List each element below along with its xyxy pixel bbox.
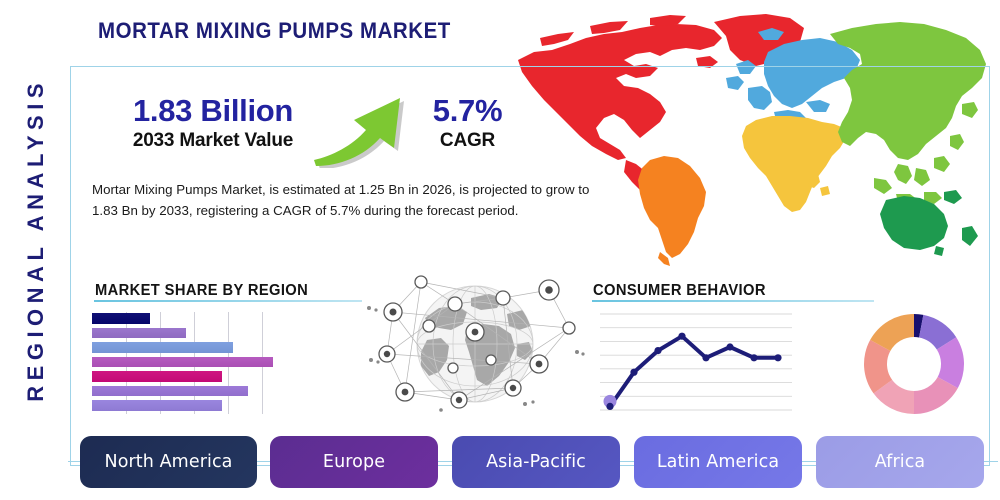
bar-4 — [92, 357, 273, 368]
line-marker-5 — [702, 354, 709, 361]
region-pill-label: Europe — [323, 452, 385, 472]
region-pill-label: Latin America — [657, 452, 779, 472]
market-share-bar-chart — [92, 312, 282, 414]
consumer-behavior-rule — [592, 300, 874, 302]
market-value-number: 1.83 Billion — [98, 95, 328, 128]
pill-connector — [620, 461, 634, 462]
market-share-heading: MARKET SHARE BY REGION — [95, 282, 308, 300]
line-marker-8 — [774, 354, 781, 361]
region-pill-latin-america[interactable]: Latin America — [634, 436, 802, 488]
cagr-number: 5.7% — [400, 95, 535, 128]
region-pill-row: North AmericaEuropeAsia-PacificLatin Ame… — [80, 436, 960, 488]
map-region-africa — [742, 116, 846, 212]
consumer-behavior-heading: CONSUMER BEHAVIOR — [593, 282, 766, 300]
region-pill-africa[interactable]: Africa — [816, 436, 984, 488]
segment-donut-chart — [856, 306, 972, 422]
pill-connector — [438, 461, 452, 462]
map-region-asia — [830, 22, 986, 206]
cagr-caption: CAGR — [400, 130, 535, 152]
world-map — [500, 8, 1000, 270]
infographic-canvas: REGIONAL ANALYSIS MORTAR MIXING PUMPS MA… — [0, 0, 1000, 500]
bar-2 — [92, 328, 186, 339]
cagr-stat: 5.7% CAGR — [400, 95, 535, 152]
pill-connector — [802, 461, 816, 462]
line-marker-2 — [630, 369, 637, 376]
market-value-caption: 2033 Market Value — [98, 130, 328, 152]
region-pill-asia-pacific[interactable]: Asia-Pacific — [452, 436, 620, 488]
line-marker-7 — [750, 354, 757, 361]
bar-3 — [92, 342, 233, 353]
line-marker-6 — [726, 343, 733, 350]
region-pill-label: Africa — [875, 452, 926, 472]
network-globe-graphic — [363, 268, 588, 420]
pill-connector — [984, 461, 998, 462]
description-text: Mortar Mixing Pumps Market, is estimated… — [92, 180, 604, 221]
line-marker-4 — [678, 333, 685, 340]
consumer-behavior-line-chart — [598, 308, 794, 416]
market-value-stat: 1.83 Billion 2033 Market Value — [98, 95, 328, 152]
line-marker-1 — [606, 403, 613, 410]
region-pill-europe[interactable]: Europe — [270, 436, 438, 488]
bar-6 — [92, 386, 248, 397]
region-pill-label: Asia-Pacific — [486, 452, 586, 472]
map-region-south-america — [638, 156, 706, 266]
regional-analysis-side-label: REGIONAL ANALYSIS — [10, 55, 62, 425]
bar-5 — [92, 371, 222, 382]
line-marker-3 — [654, 347, 661, 354]
pill-connector — [257, 461, 270, 462]
bar-1 — [92, 313, 150, 324]
region-pill-north-america[interactable]: North America — [80, 436, 257, 488]
bar-7 — [92, 400, 222, 411]
region-pill-label: North America — [105, 452, 233, 472]
side-label-text: REGIONAL ANALYSIS — [23, 78, 49, 402]
page-title: MORTAR MIXING PUMPS MARKET — [98, 18, 451, 44]
market-share-rule — [94, 300, 362, 302]
